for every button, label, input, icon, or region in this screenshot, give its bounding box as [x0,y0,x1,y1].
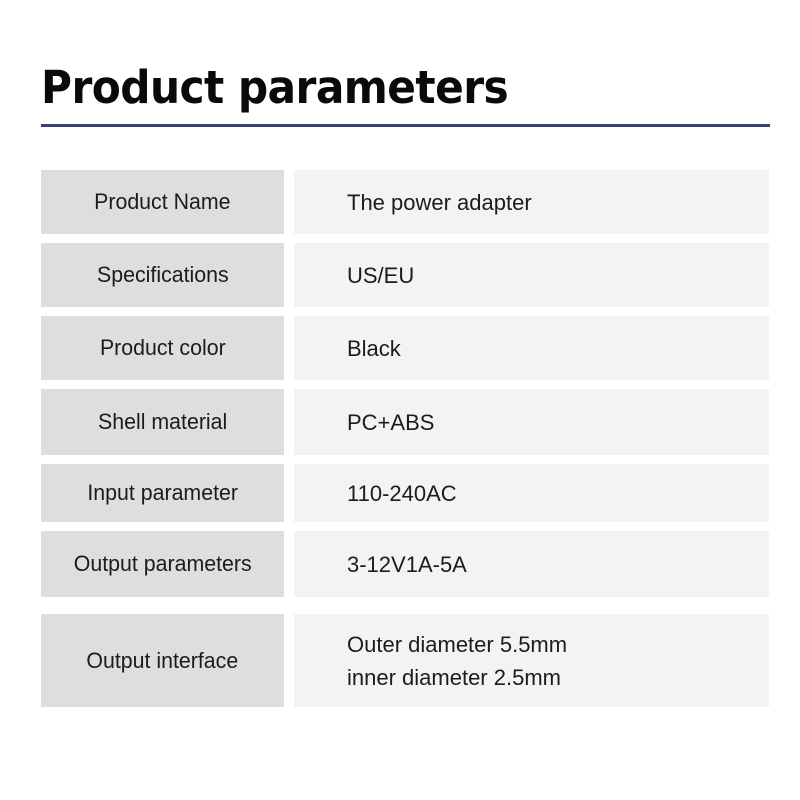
spec-label-cell: Shell material [41,389,284,455]
table-row: Product Name The power adapter [41,170,769,234]
spec-label-cell: Output parameters [41,531,284,597]
spec-label-cell: Product color [41,316,284,380]
table-row: Product color Black [41,316,769,380]
spec-value-cell: US/EU [294,243,769,307]
table-row: Shell material PC+ABS [41,389,769,455]
spec-label-text: Shell material [98,409,227,435]
spec-value-text: The power adapter [347,186,769,219]
spec-value-text-line1: Outer diameter 5.5mm [347,628,769,661]
table-row: Output parameters 3-12V1A-5A [41,531,769,597]
spec-value-text: PC+ABS [347,406,769,439]
spec-label-text: Output interface [87,648,239,674]
spec-value-cell: Outer diameter 5.5mm inner diameter 2.5m… [294,614,769,707]
spec-label-cell: Product Name [41,170,284,234]
spec-value-text: 110-240AC [347,477,769,510]
page-title: Product parameters [41,62,508,114]
spec-value-cell: PC+ABS [294,389,769,455]
spec-label-text: Output parameters [74,551,252,577]
spec-label-text: Input parameter [87,480,238,506]
spec-value-cell: The power adapter [294,170,769,234]
spec-value-cell: 3-12V1A-5A [294,531,769,597]
spec-value-text: Black [347,332,769,365]
spec-table: Product Name The power adapter Specifica… [41,170,769,707]
product-parameters-page: Product parameters Product Name The powe… [0,0,800,800]
spec-value-cell: Black [294,316,769,380]
spec-label-text: Specifications [97,262,229,288]
spec-value-text-line2: inner diameter 2.5mm [347,661,769,694]
spec-value-text: US/EU [347,259,769,292]
spec-value-cell: 110-240AC [294,464,769,522]
spec-label-cell: Output interface [41,614,284,707]
spec-label-text: Product Name [94,189,230,215]
spec-label-text: Product color [100,335,226,361]
spec-value-text: 3-12V1A-5A [347,548,769,581]
table-row: Specifications US/EU [41,243,769,307]
table-row: Output interface Outer diameter 5.5mm in… [41,614,769,707]
table-row: Input parameter 110-240AC [41,464,769,522]
title-divider [41,124,770,127]
spec-label-cell: Input parameter [41,464,284,522]
spec-label-cell: Specifications [41,243,284,307]
